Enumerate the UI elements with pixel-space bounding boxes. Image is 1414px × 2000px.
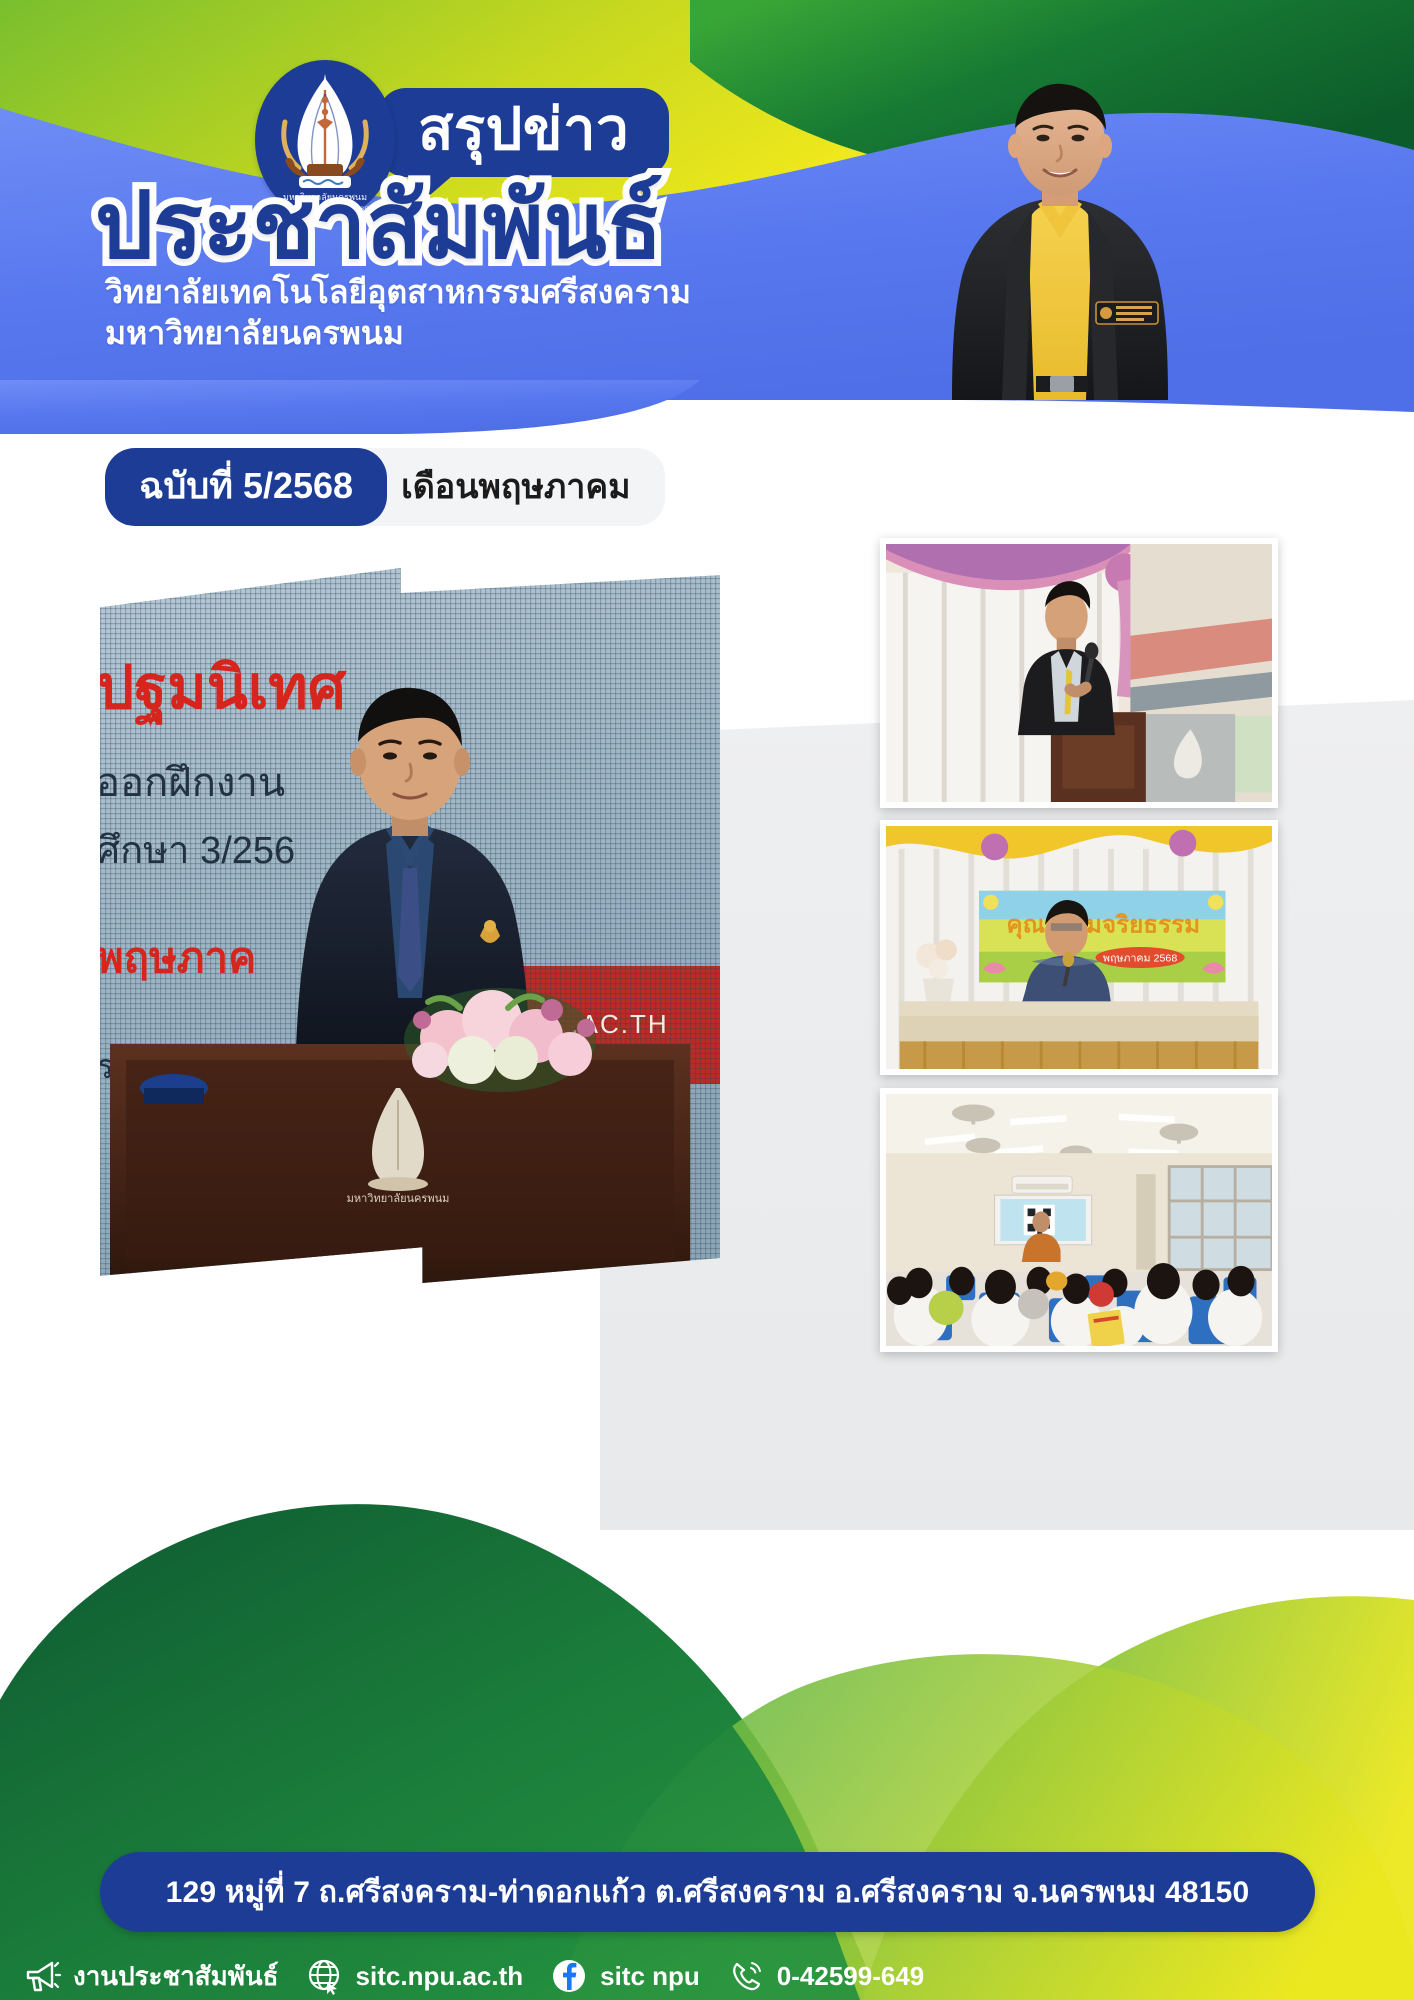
globe-icon: [305, 1956, 345, 1996]
led-headline-red-2: พฤษภาค: [100, 934, 256, 981]
contact-facebook-label: sitc npu: [600, 1961, 700, 1992]
organization-line-2: มหาวิทยาลัยนครพนม: [105, 313, 691, 354]
banner-headline: คุณธรรมจริยธรรม: [1006, 912, 1200, 941]
speech-bubble-badge: สรุปข่าว: [378, 88, 669, 177]
address-text: 129 หมู่ที่ 7 ถ.ศรีสงคราม-ท่าดอกแก้ว ต.ศ…: [166, 1869, 1250, 1916]
facebook-icon: [549, 1956, 589, 1996]
organization-line-1: วิทยาลัยเทคโนโลยีอุตสาหกรรมศรีสงคราม: [105, 272, 691, 313]
issue-number-badge: ฉบับที่ 5/2568: [105, 448, 387, 526]
photo-meeting-morality-banner: คุณธรรมจริยธรรม พฤษภาคม 2568: [880, 820, 1278, 1075]
contact-row: งานประชาสัมพันธ์ sitc.npu.ac.th sitc npu: [22, 1952, 1022, 2000]
contact-facebook[interactable]: sitc npu: [549, 1956, 700, 1996]
megaphone-icon: [22, 1956, 62, 1996]
issue-badge-row: ฉบับที่ 5/2568 เดือนพฤษภาคม: [105, 448, 665, 526]
photo-collage: .AC.TH ปฐมนิเทศ ออกฝึกงาน ศึกษา 3/256 พฤ…: [0, 520, 1414, 1520]
contact-website[interactable]: sitc.npu.ac.th: [305, 1956, 524, 1996]
poster-header: มหาวิทยาลัยนครพนม NAKHON PHANOM UNIVERSI…: [0, 0, 1414, 500]
led-headline-red: ปฐมนิเทศ: [100, 654, 347, 726]
flower-bouquet: [404, 988, 596, 1092]
led-line-3: ศึกษา 3/256: [100, 830, 295, 872]
contact-pr-office: งานประชาสัมพันธ์: [22, 1956, 279, 1997]
svg-text:มหาวิทยาลัยนครพนม: มหาวิทยาลัยนครพนม: [347, 1193, 450, 1205]
speech-bubble-text: สรุปข่าว: [418, 100, 629, 161]
led-line-2: ออกฝึกงาน: [100, 761, 285, 805]
phone-icon: [726, 1956, 766, 1996]
poster-page: มหาวิทยาลัยนครพนม NAKHON PHANOM UNIVERSI…: [0, 0, 1414, 2000]
photo-speech-on-stage-podium: [880, 538, 1278, 808]
contact-website-label: sitc.npu.ac.th: [356, 1961, 524, 1992]
banner-subtext: พฤษภาคม 2568: [1103, 952, 1177, 964]
photo-speaker-at-podium-led-screen: .AC.TH ปฐมนิเทศ ออกฝึกงาน ศึกษา 3/256 พฤ…: [100, 568, 720, 1283]
issue-month-label: เดือนพฤษภาคม: [359, 448, 664, 526]
contact-pr-label: งานประชาสัมพันธ์: [73, 1956, 279, 1997]
photo-classroom-students-audience: [880, 1088, 1278, 1352]
contact-phone-label: 0-42599-649: [777, 1961, 924, 1992]
contact-phone[interactable]: 0-42599-649: [726, 1956, 924, 1996]
address-bar: 129 หมู่ที่ 7 ถ.ศรีสงคราม-ท่าดอกแก้ว ต.ศ…: [100, 1852, 1315, 1932]
organization-name: วิทยาลัยเทคโนโลยีอุตสาหกรรมศรีสงคราม มหา…: [105, 272, 691, 354]
executive-portrait: [900, 70, 1220, 400]
page-title: ประชาสัมพันธ์: [95, 180, 663, 272]
